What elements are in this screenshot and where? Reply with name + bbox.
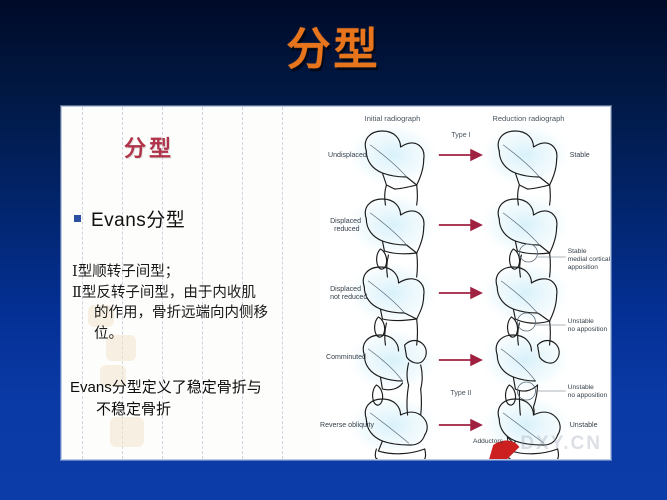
bullet-item-label: Evans分型 [91, 205, 185, 232]
row-label-left: Displaced not reduced [330, 286, 367, 301]
closing-statement: Evans分型定义了稳定骨折与 不稳定骨折 [70, 377, 318, 421]
type-label-2: Type II [450, 390, 471, 397]
column-header-reduction: Reduction radiograph [492, 114, 564, 123]
slide-text-panel: 分型 Evans分型 Ⅰ型顺转子间型； Ⅱ型反转子间型，由于内收肌 的作用，骨折… [62, 107, 320, 459]
presentation-slide: 分型 分型 Evans分型 Ⅰ型顺转子间型； Ⅱ型反转子间型，由于内收肌 的作 [0, 0, 667, 500]
row-label-left: Displaced reduced [330, 218, 363, 233]
paragraph-line: Ⅰ型顺转子间型； [72, 262, 316, 283]
figure-canvas: Initial radiograph Reduction radiograph … [320, 107, 610, 459]
column-header-initial: Initial radiograph [365, 114, 421, 123]
closing-line: 不稳定骨折 [70, 399, 318, 421]
row-label-right: Unstable [570, 422, 598, 429]
paper-texture-blob [110, 417, 144, 447]
adductors-annotation: Adductors [473, 438, 504, 445]
row-label-left: Undisplaced [328, 152, 367, 159]
slide-inner-heading: 分型 [124, 131, 174, 163]
evans-classification-figure: Initial radiograph Reduction radiograph … [320, 107, 610, 459]
closing-line: Evans分型定义了稳定骨折与 [70, 377, 318, 399]
paragraph-line: 的作用，骨折远端向内侧移 [72, 303, 316, 324]
square-bullet-icon [74, 215, 81, 222]
type-label-1: Type I [451, 132, 470, 139]
row-label-left: Reverse obliquity [320, 422, 374, 429]
paragraph-line: Ⅱ型反转子间型，由于内收肌 [72, 283, 316, 304]
bullet-item: Evans分型 [74, 205, 185, 232]
row-label-right: Stable [570, 152, 590, 159]
paragraph-line: 位。 [72, 324, 316, 345]
page-title: 分型 [0, 28, 667, 72]
row-label-left: Comminuted [326, 354, 366, 361]
classification-paragraph: Ⅰ型顺转子间型； Ⅱ型反转子间型，由于内收肌 的作用，骨折远端向内侧移 位。 [72, 262, 316, 344]
slide-content-image: 分型 Evans分型 Ⅰ型顺转子间型； Ⅱ型反转子间型，由于内收肌 的作用，骨折… [61, 106, 611, 460]
